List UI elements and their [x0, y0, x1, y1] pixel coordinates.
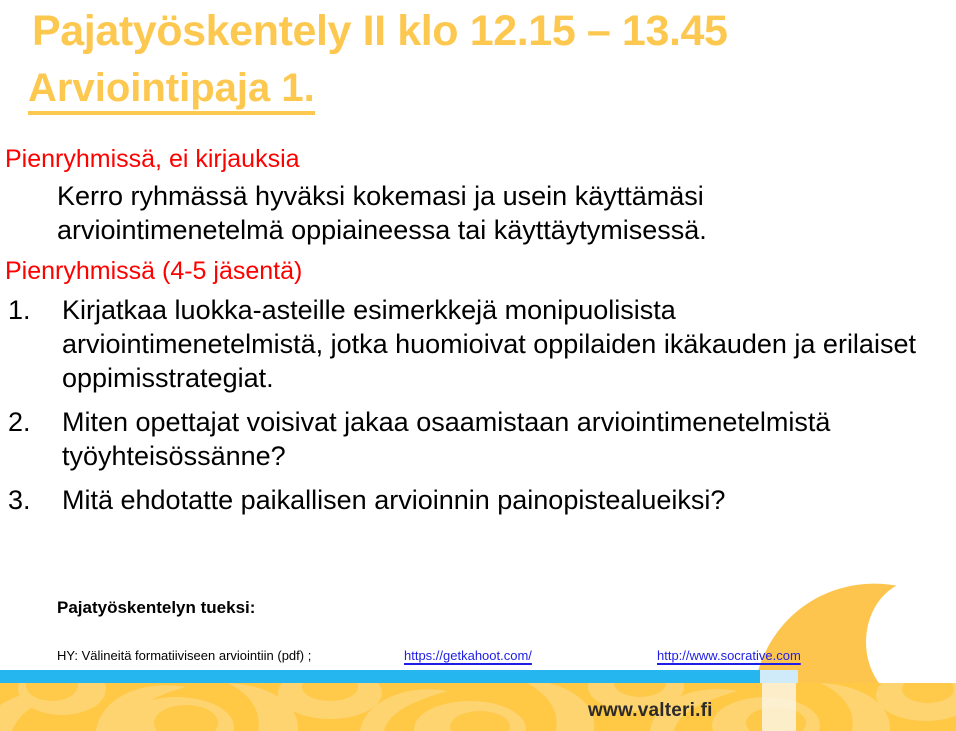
task-list: 1. Kirjatkaa luokka-asteille esimerkkejä… [0, 293, 920, 517]
presentation-slide: Pajatyöskentely II klo 12.15 – 13.45 Arv… [0, 0, 956, 731]
footer-light-stripe [762, 683, 796, 731]
link-getkahoot[interactable]: https://getkahoot.com/ [404, 648, 532, 663]
resource-links-row: HY: Välineitä formatiiviseen arviointiin… [57, 648, 917, 670]
footer-website: www.valteri.fi [588, 700, 713, 722]
task-item: 3. Mitä ehdotatte paikallisen arvioinnin… [0, 483, 920, 517]
instruction-paragraph: Kerro ryhmässä hyväksi kokemasi ja usein… [0, 179, 887, 247]
task-item-marker: 2. [8, 405, 31, 439]
footer-swirl-pattern [0, 683, 956, 731]
section-heading-smallgroups-size: Pienryhmissä (4-5 jäsentä) [0, 255, 920, 287]
slide-title: Pajatyöskentely II klo 12.15 – 13.45 [0, 0, 956, 56]
task-item-marker: 3. [8, 483, 31, 517]
resource-note: HY: Välineitä formatiiviseen arviointiin… [57, 648, 311, 663]
task-item-text: Kirjatkaa luokka-asteille esimerkkejä mo… [62, 295, 916, 393]
footer-gold-band [0, 683, 956, 731]
footer-cyan-bar [0, 670, 760, 683]
slide-subtitle: Arviointipaja 1. [0, 56, 956, 111]
link-socrative[interactable]: http://www.socrative.com [657, 648, 801, 663]
task-item: 2. Miten opettajat voisivat jakaa osaami… [0, 405, 920, 473]
task-item-marker: 1. [8, 293, 31, 327]
slide-content: Pienryhmissä, ei kirjauksia Kerro ryhmäs… [0, 143, 920, 527]
task-item-text: Miten opettajat voisivat jakaa osaamista… [62, 407, 830, 471]
slide-subtitle-text: Arviointipaja 1. [28, 66, 315, 115]
task-item: 1. Kirjatkaa luokka-asteille esimerkkejä… [0, 293, 920, 395]
footer-cyan-bar-fade [760, 670, 798, 683]
support-heading: Pajatyöskentelyn tueksi: [57, 598, 255, 618]
section-heading-smallgroups-nonotes: Pienryhmissä, ei kirjauksia [0, 143, 920, 175]
title-block: Pajatyöskentely II klo 12.15 – 13.45 Arv… [0, 0, 956, 111]
task-item-text: Mitä ehdotatte paikallisen arvioinnin pa… [62, 485, 725, 515]
